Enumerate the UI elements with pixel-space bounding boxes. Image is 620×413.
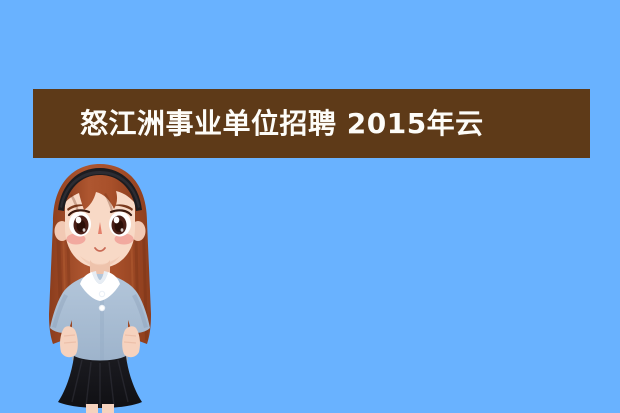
poster-canvas: 怒江洲事业单位招聘 2015年云 (0, 0, 620, 413)
cartoon-schoolgirl-illustration (20, 160, 220, 413)
skirt (58, 356, 142, 408)
title-banner: 怒江洲事业单位招聘 2015年云 (33, 89, 590, 158)
page-title: 怒江洲事业单位招聘 2015年云 (80, 110, 484, 138)
